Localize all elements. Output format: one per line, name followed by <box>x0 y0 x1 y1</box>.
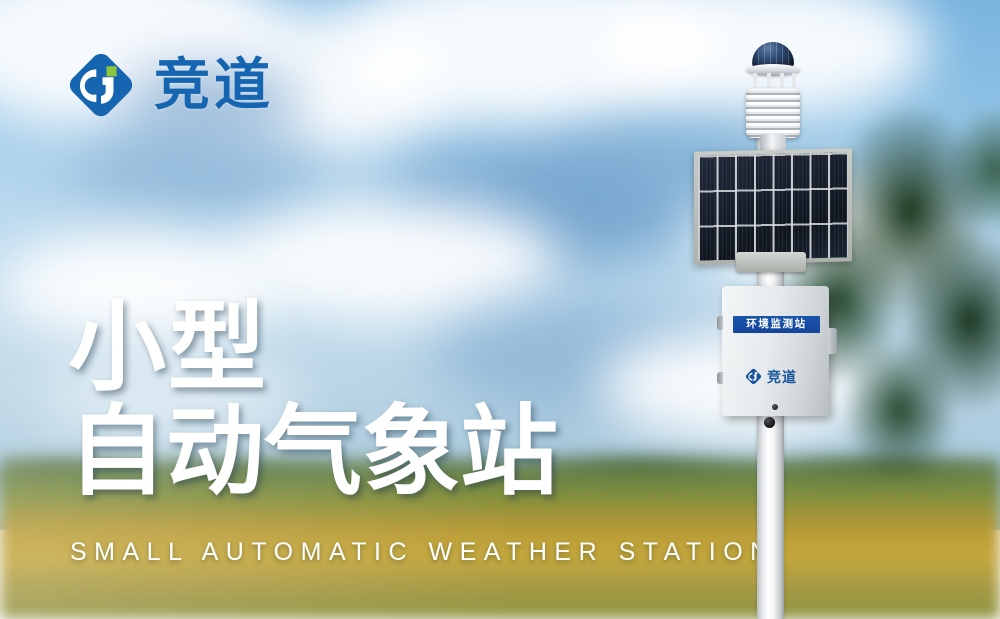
jingdao-diamond-logo-icon <box>62 46 140 124</box>
enclosure-screw <box>772 404 778 410</box>
enclosure-brand-logo: 竞道 <box>744 367 797 386</box>
headline-block: 小型 自动气象站 <box>68 296 558 504</box>
brand-name: 竞道 <box>154 57 274 113</box>
subtitle: SMALL AUTOMATIC WEATHER STATION <box>70 538 776 567</box>
headline-line-1: 小型 <box>68 296 558 400</box>
solar-panel-icon <box>694 148 852 264</box>
enclosure-hinge-top <box>717 316 723 330</box>
brand-logo[interactable]: 竞道 <box>62 46 274 124</box>
panel-bracket-icon <box>736 252 806 272</box>
enclosure-banner-label: 环境监测站 <box>746 319 807 330</box>
blurred-tree-icon <box>780 60 1000 480</box>
enclosure-latch-right <box>828 328 837 354</box>
headline-line-2: 自动气象站 <box>68 400 558 504</box>
mast-cable-hole <box>764 417 775 428</box>
product-banner: 竞道 小型 自动气象站 SMALL AUTOMATIC WEATHER STAT… <box>0 0 1000 619</box>
enclosure-brand-label: 竞道 <box>767 370 797 384</box>
radiation-shield-icon <box>746 88 800 138</box>
enclosure-banner: 环境监测站 <box>733 316 820 333</box>
solar-panel-cells <box>698 152 848 260</box>
control-enclosure <box>722 286 829 416</box>
jingdao-diamond-logo-icon <box>744 367 763 386</box>
enclosure-hinge-bottom <box>717 372 723 384</box>
